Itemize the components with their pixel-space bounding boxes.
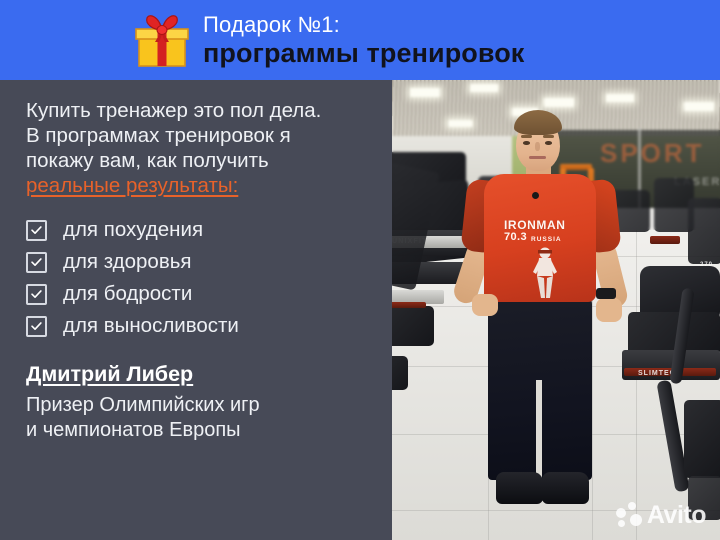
- list-item: для похудения: [26, 214, 392, 246]
- ceiling-light: [410, 88, 440, 97]
- benefits-checklist: для похудения для здоровья для бодрости: [26, 214, 392, 342]
- ceiling-light: [684, 102, 714, 111]
- machine-accent-bar: [650, 236, 680, 244]
- person-left-shoe: [496, 472, 543, 504]
- person-leg-gap: [536, 380, 542, 484]
- gym-machine: [684, 400, 720, 478]
- tshirt-logo-line1: IRONMAN: [504, 219, 566, 231]
- checkbox-checked-icon: [26, 220, 47, 241]
- machine-accent-bar: [392, 302, 426, 308]
- floor-grout-line: [636, 230, 637, 540]
- checklist-label: для похудения: [63, 218, 203, 242]
- list-item: для бодрости: [26, 278, 392, 310]
- checkbox-checked-icon: [26, 316, 47, 337]
- person-mouth: [529, 156, 546, 159]
- gym-machine: [392, 306, 434, 346]
- avito-wordmark: Avito: [647, 503, 706, 528]
- gym-machine: [392, 356, 408, 390]
- person-eye-right: [545, 141, 552, 145]
- author-name: Дмитрий Либер: [26, 362, 193, 387]
- intro-accent-line: реальные результаты:: [26, 173, 392, 198]
- tshirt-logo: IRONMAN 70.3 RUSSIA: [504, 220, 578, 242]
- checkbox-checked-icon: [26, 284, 47, 305]
- promo-image: Подарок №1: программы тренировок Купить …: [0, 0, 720, 540]
- person-wristwatch: [596, 288, 616, 299]
- person-lapel-microphone: [532, 192, 539, 199]
- header-title-line2: программы тренировок: [203, 40, 524, 67]
- header-titles: Подарок №1: программы тренировок: [203, 14, 524, 67]
- author-signature: Дмитрий Либер Призер Олимпийских игр и ч…: [26, 362, 392, 443]
- author-credentials-line-2: и чемпионатов Европы: [26, 418, 392, 443]
- info-panel: Купить тренажер это пол дела. В программ…: [0, 80, 392, 540]
- person-nose: [535, 142, 540, 151]
- ceiling-light: [606, 94, 634, 102]
- intro-line-1: Купить тренажер это пол дела.: [26, 98, 392, 123]
- avito-watermark: Avito: [616, 502, 706, 528]
- header-banner: Подарок №1: программы тренировок: [0, 0, 720, 80]
- tshirt-logo-line2: 70.3: [504, 231, 527, 243]
- person-right-hand: [596, 298, 622, 322]
- avito-dots-icon: [616, 502, 642, 528]
- intro-paragraph: Купить тренажер это пол дела. В программ…: [26, 98, 392, 198]
- store-sign: SPORT: [600, 138, 705, 169]
- tshirt-logo-line3: RUSSIA: [531, 236, 562, 243]
- person-eyebrow-left: [521, 135, 532, 138]
- gift-box-icon: [133, 12, 191, 70]
- person-eyebrow-right: [543, 135, 554, 138]
- checklist-label: для выносливости: [63, 314, 239, 338]
- tshirt-runner-graphic: [532, 246, 558, 304]
- list-item: для здоровья: [26, 246, 392, 278]
- intro-line-3: покажу вам, как получить: [26, 148, 392, 173]
- ceiling-light: [470, 84, 498, 92]
- trainer-photo: SPORT LASER UNIXFIT: [392, 80, 720, 540]
- gym-machine: [688, 198, 720, 264]
- person-right-shoe: [542, 472, 589, 504]
- intro-line-2: В программах тренировок я: [26, 123, 392, 148]
- checkbox-checked-icon: [26, 252, 47, 273]
- ceiling-light: [448, 120, 472, 127]
- list-item: для выносливости: [26, 310, 392, 342]
- checklist-label: для бодрости: [63, 282, 192, 306]
- checklist-label: для здоровья: [63, 250, 192, 274]
- machine-code-label: 270: [700, 262, 713, 268]
- author-credentials-line-1: Призер Олимпийских игр: [26, 393, 392, 418]
- person-eye-left: [523, 141, 530, 145]
- person-left-hand: [472, 294, 498, 316]
- ceiling-light: [544, 98, 574, 107]
- header-title-line1: Подарок №1:: [203, 14, 524, 36]
